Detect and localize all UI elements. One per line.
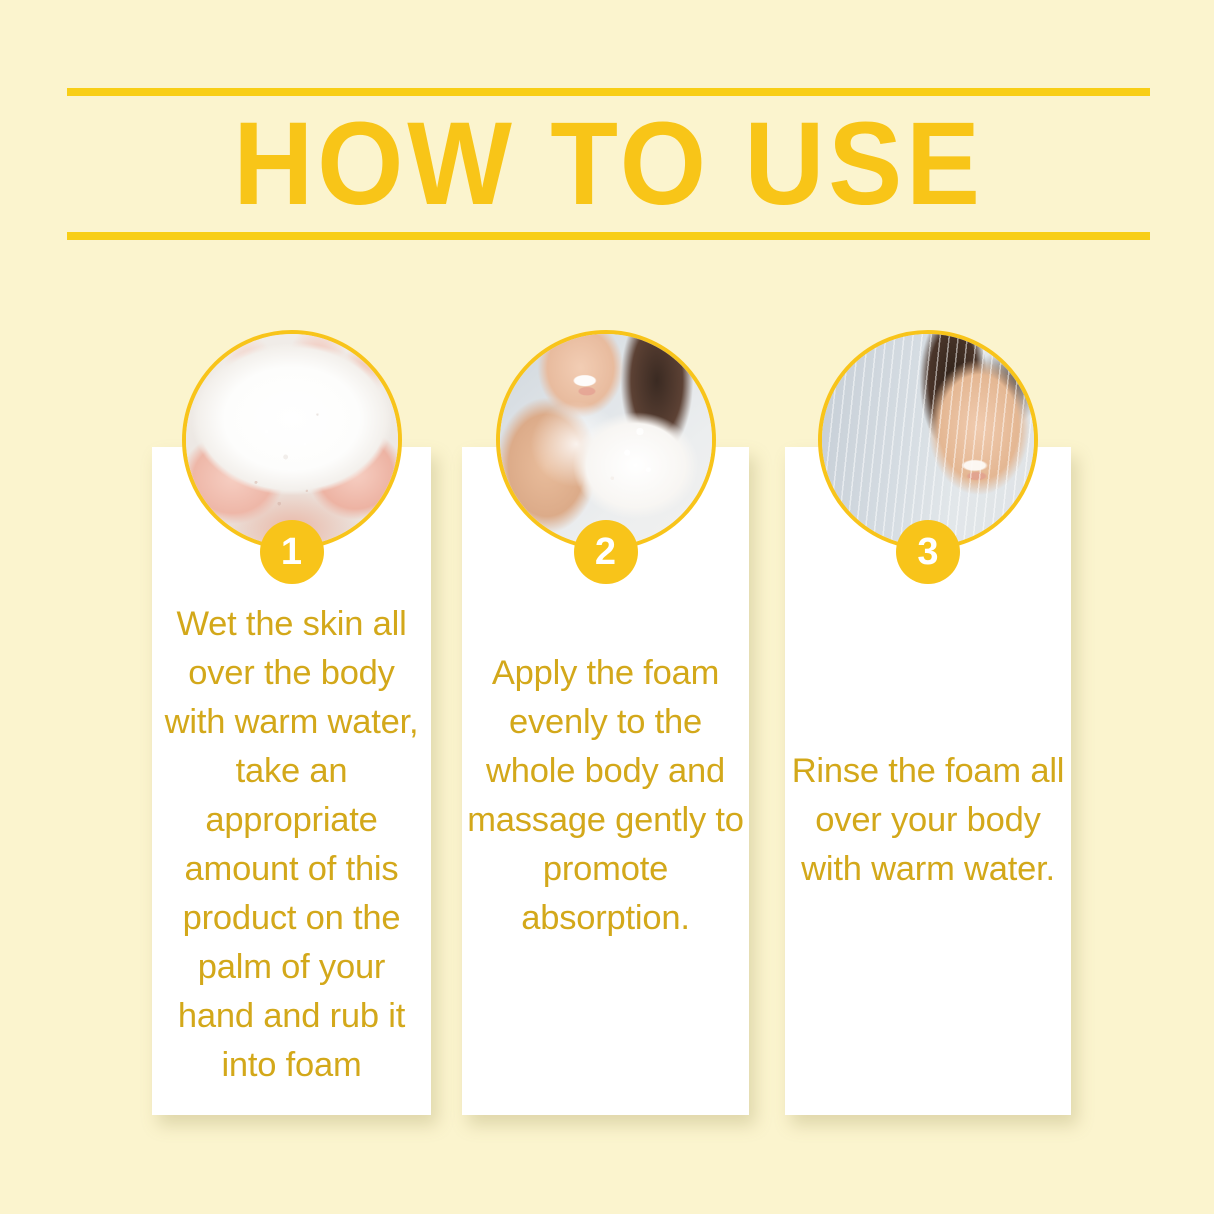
step-number-badge: 1 — [260, 520, 324, 584]
woman-rinsing-in-shower-photo — [818, 330, 1038, 550]
step-photo-wrap — [496, 330, 716, 550]
woman-lathering-foam-photo — [496, 330, 716, 550]
hands-holding-foam-photo — [182, 330, 402, 550]
lather-illustration — [500, 334, 712, 546]
step-photo-wrap — [818, 330, 1038, 550]
step-number-badge: 2 — [574, 520, 638, 584]
steps-row: Wet the skin all over the body with warm… — [0, 0, 1214, 1214]
step-description: Rinse the foam all over your body with w… — [789, 747, 1067, 894]
shower-illustration — [822, 334, 1034, 546]
step-number-badge: 3 — [896, 520, 960, 584]
step-description: Apply the foam evenly to the whole body … — [466, 649, 745, 943]
step-description: Wet the skin all over the body with warm… — [156, 600, 427, 1090]
how-to-use-infographic: HOW TO USE Wet the skin all over the bod… — [0, 0, 1214, 1214]
foam-illustration — [186, 334, 398, 546]
step-photo-wrap — [182, 330, 402, 550]
